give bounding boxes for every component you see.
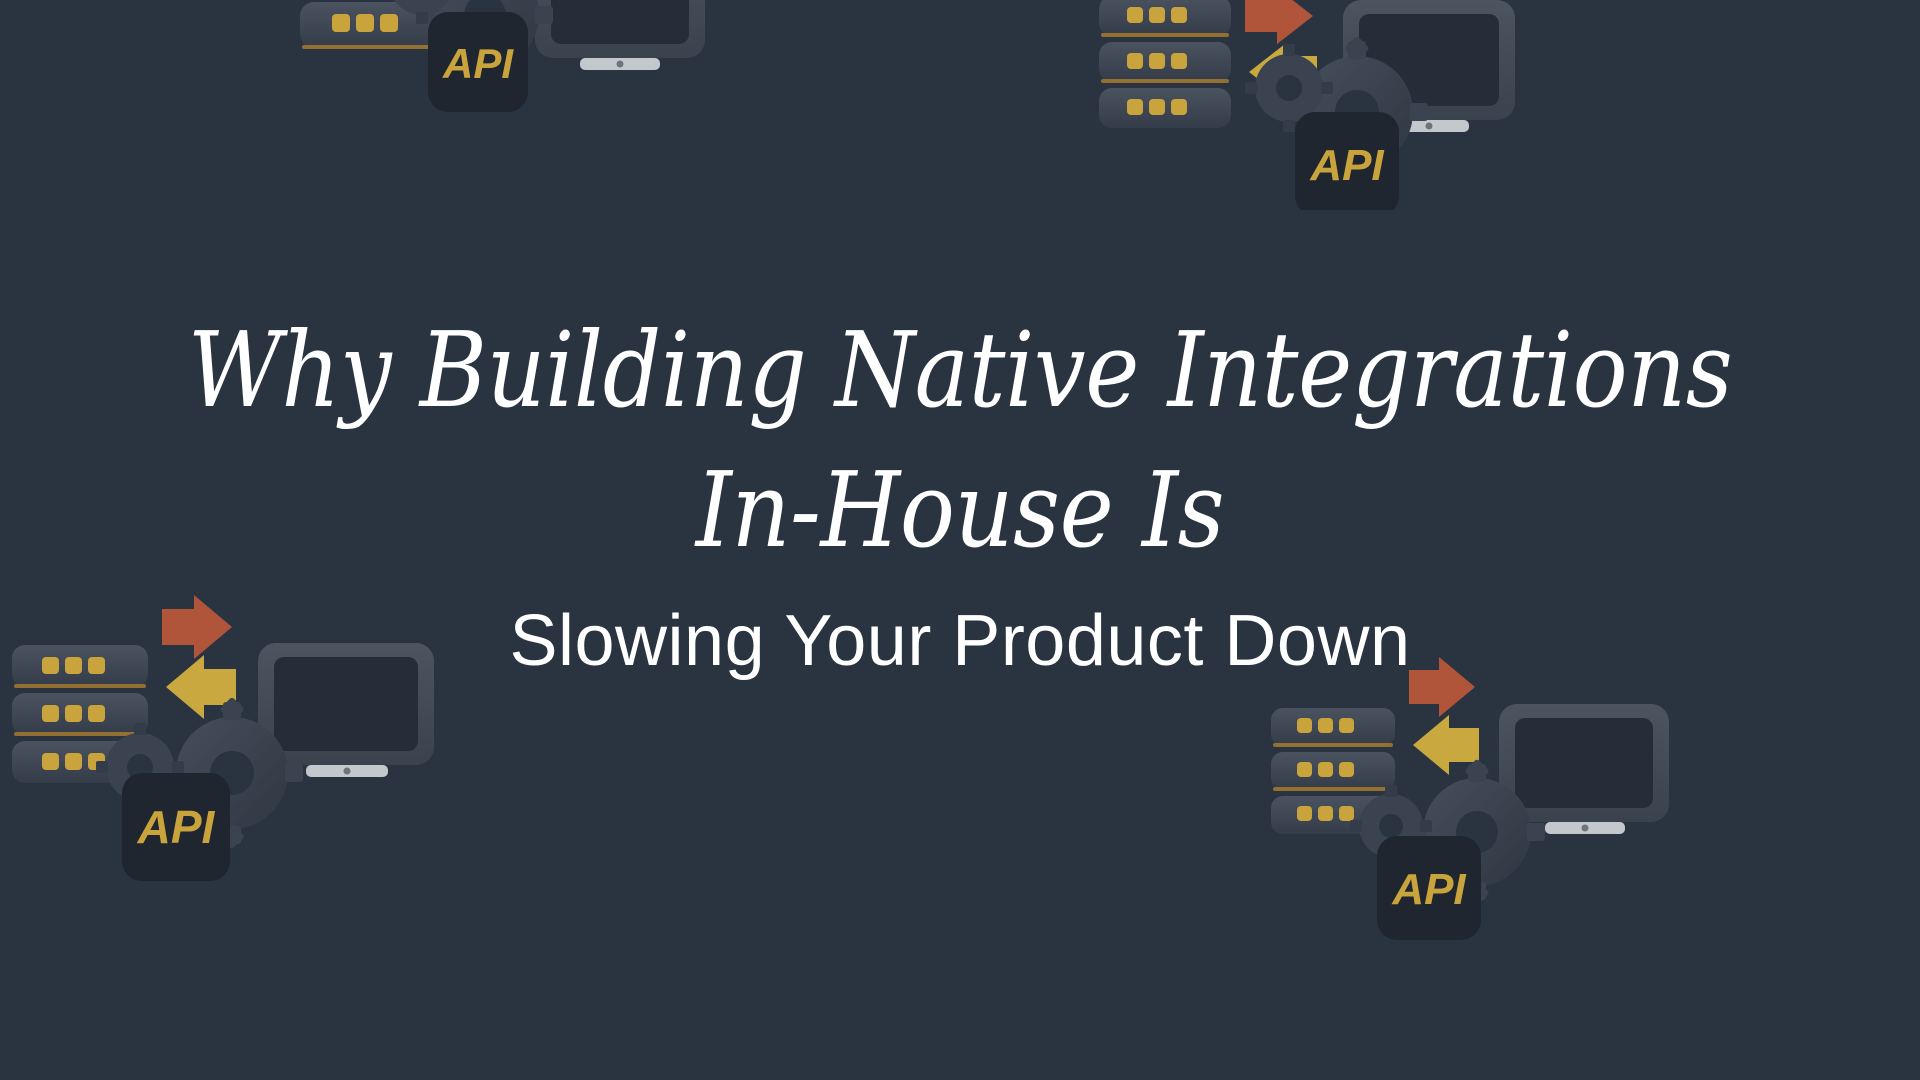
arrow-right-red-icon (1245, 0, 1313, 44)
api-badge-label: API (137, 801, 216, 853)
api-badge-label: API (1391, 865, 1466, 914)
api-badge-icon: API (122, 773, 230, 881)
api-integration-illustration-top-right: API (1085, 0, 1545, 210)
api-badge-label: API (1309, 141, 1384, 190)
api-badge-label: API (442, 40, 514, 87)
api-integration-illustration-bottom-right: API (1245, 640, 1705, 1000)
page-title-line-2: In-House Is (115, 440, 1805, 580)
api-badge-icon: API (428, 12, 528, 112)
gear-icon (380, 0, 553, 89)
arrow-left-gold-icon (1413, 715, 1479, 775)
page-subtitle-line-1: Slowing Your Product Down (0, 595, 1920, 689)
api-badge-icon: API (1377, 836, 1481, 940)
monitor-icon (1499, 704, 1669, 834)
slide-text-block: Why Building Native Integrations In-Hous… (0, 300, 1920, 688)
server-stack-icon (1099, 0, 1231, 128)
server-stack-icon (1271, 708, 1395, 834)
server-stack-icon (300, 0, 450, 49)
presentation-slide: API (0, 0, 1920, 1080)
gear-icon (1350, 758, 1545, 905)
gear-icon (1245, 36, 1428, 189)
gear-icon (96, 697, 303, 850)
api-integration-illustration-top-left: API (280, 0, 740, 160)
arrow-left-gold-icon (1249, 44, 1317, 100)
monitor-icon (1343, 0, 1515, 132)
monitor-icon (535, 0, 705, 70)
api-badge-icon: API (1295, 112, 1399, 210)
page-title-line-1: Why Building Native Integrations (115, 300, 1805, 440)
